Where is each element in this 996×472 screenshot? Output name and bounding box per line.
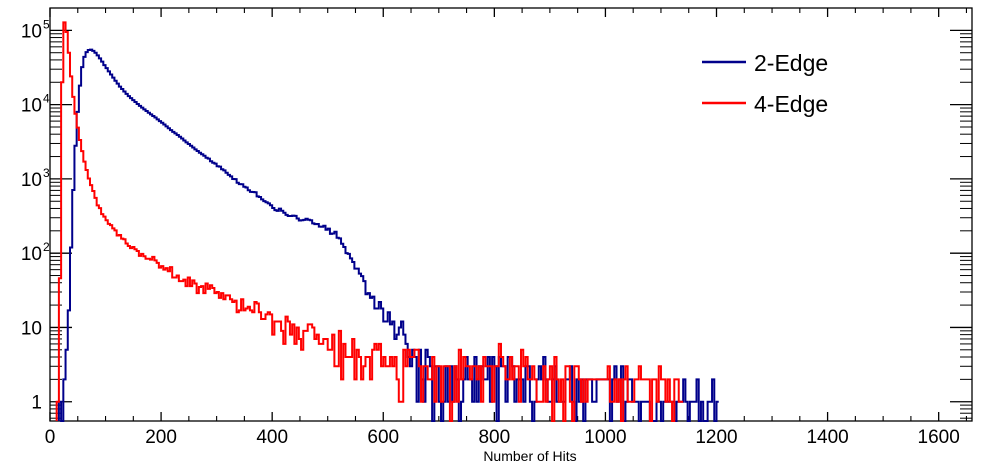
x-tick-label: 200 (145, 427, 177, 448)
chart-figure: 110102103104105 020040060080010001200140… (0, 0, 996, 472)
x-tick-label: 0 (45, 427, 56, 448)
y-tick-exponent: 4 (43, 92, 50, 106)
y-tick-exponent: 3 (43, 166, 50, 180)
y-tick-exponent: 2 (43, 240, 50, 254)
data-series-group (57, 22, 719, 421)
x-tick-label: 600 (367, 427, 399, 448)
y-axis-tick-labels: 110102103104105 (21, 17, 50, 413)
x-tick-label: 400 (256, 427, 288, 448)
y-tick-label: 10 (21, 318, 42, 339)
x-axis-tick-labels: 02004006008001000120014001600 (45, 427, 960, 448)
y-tick-label: 10 (21, 96, 42, 117)
legend: 2-Edge4-Edge (702, 50, 828, 117)
x-axis-title: Number of Hits (483, 448, 576, 464)
plot-frame (50, 8, 972, 421)
x-tick-label: 1400 (806, 427, 848, 448)
y-tick-label: 1 (31, 393, 42, 414)
x-tick-label: 1200 (695, 427, 737, 448)
y-tick-label: 10 (21, 170, 42, 191)
axis-ticks (50, 8, 972, 421)
plot-canvas: 110102103104105 020040060080010001200140… (0, 0, 996, 472)
legend-label: 2-Edge (754, 50, 828, 76)
y-tick-exponent: 5 (43, 17, 50, 31)
y-tick-label: 10 (21, 244, 42, 265)
y-tick-label: 10 (21, 21, 42, 42)
x-tick-label: 800 (478, 427, 510, 448)
x-tick-label: 1600 (918, 427, 960, 448)
series-line-4-edge (57, 22, 684, 421)
x-tick-label: 1000 (584, 427, 626, 448)
legend-label: 4-Edge (754, 91, 828, 117)
